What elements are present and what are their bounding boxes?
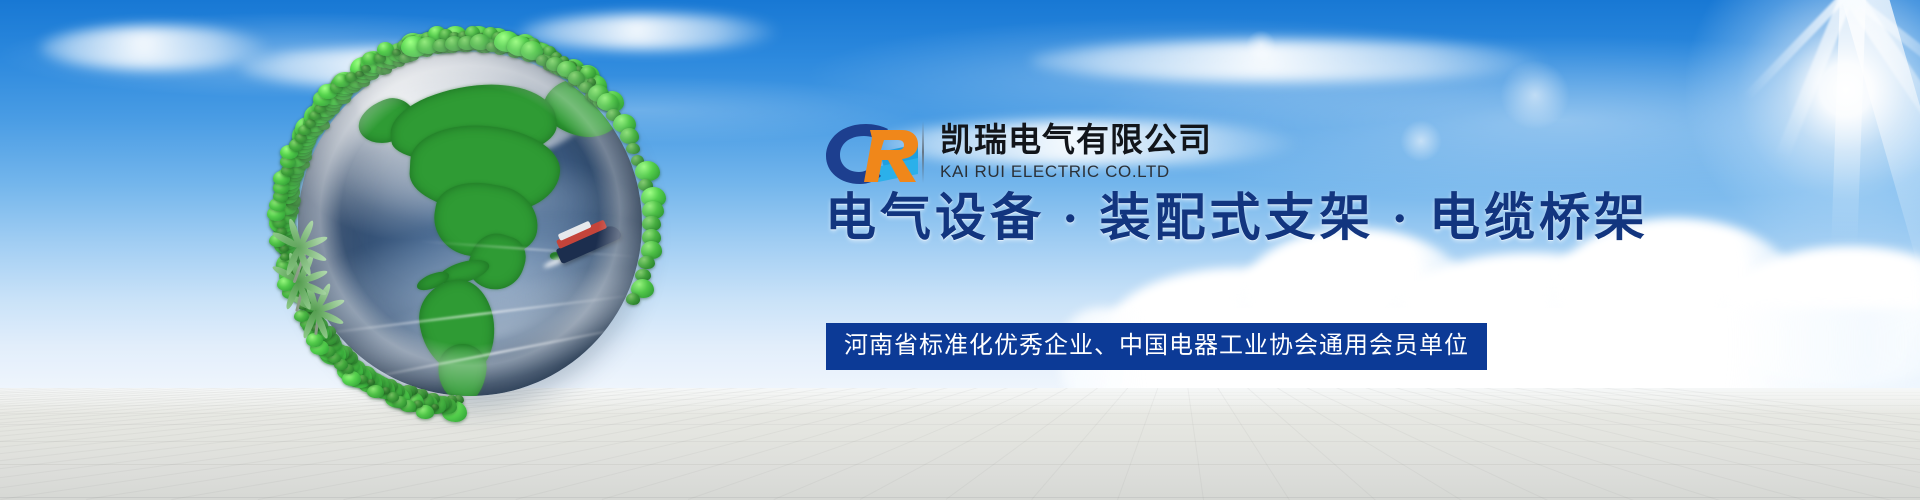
tree-icon	[269, 198, 286, 212]
tree-icon	[452, 38, 467, 51]
tree-icon	[295, 122, 319, 142]
green-earth-globe	[268, 24, 672, 424]
tree-icon	[428, 26, 446, 40]
tree-icon	[313, 91, 331, 105]
tree-icon	[620, 128, 640, 144]
tree-icon	[276, 224, 296, 242]
tree-icon	[314, 104, 326, 114]
tree-icon	[273, 181, 289, 194]
tree-icon	[289, 139, 303, 151]
tree-icon	[462, 36, 479, 51]
tree-icon	[642, 201, 664, 219]
tree-icon	[282, 286, 298, 299]
tree-icon	[275, 228, 296, 246]
tree-icon	[641, 187, 666, 208]
brand-text: 凯瑞电气有限公司 KAI RUI ELECTRIC CO.LTD	[940, 121, 1212, 183]
globe-sphere	[298, 52, 642, 396]
tree-icon	[641, 241, 663, 259]
tree-icon	[281, 165, 294, 175]
tree-icon	[417, 32, 440, 52]
tree-icon	[502, 35, 523, 53]
tree-icon	[439, 29, 453, 40]
tree-icon	[284, 147, 307, 167]
tree-icon	[280, 155, 296, 168]
tree-icon	[416, 405, 433, 419]
tree-icon	[446, 395, 458, 405]
tree-icon	[282, 167, 302, 185]
tree-icon	[443, 26, 468, 47]
company-name-cn: 凯瑞电气有限公司	[940, 121, 1212, 159]
tree-icon	[484, 35, 503, 51]
tree-icon	[466, 34, 484, 50]
tree-icon	[277, 205, 297, 222]
tree-icon	[437, 398, 456, 415]
tree-icon	[642, 216, 660, 231]
tree-icon	[305, 119, 316, 128]
tree-icon	[421, 32, 435, 43]
tree-icon	[287, 157, 306, 174]
tree-icon	[638, 179, 653, 192]
tree-icon	[409, 34, 432, 54]
tree-icon	[400, 400, 416, 412]
tree-icon	[273, 190, 288, 202]
tree-icon	[292, 124, 317, 145]
tree-icon	[278, 174, 300, 193]
tree-icon	[332, 82, 353, 100]
tree-icon	[277, 232, 297, 249]
tree-icon	[431, 404, 439, 410]
tree-icon	[318, 84, 337, 99]
tree-icon	[304, 105, 329, 126]
tree-icon	[276, 261, 290, 273]
tree-icon	[496, 37, 514, 53]
tree-icon	[479, 31, 501, 50]
tree-icon	[272, 215, 295, 235]
cr-monogram-logo	[826, 116, 922, 188]
tree-icon	[332, 72, 358, 94]
tree-icon	[470, 34, 490, 50]
tree-icon	[291, 133, 314, 153]
tree-icon	[403, 35, 418, 47]
tree-icon	[273, 217, 286, 228]
tree-icon	[416, 39, 426, 47]
brand-divider	[922, 121, 924, 183]
tree-icon	[309, 111, 321, 121]
credentials-ribbon-text: 河南省标准化优秀企业、中国电器工业协会通用会员单位	[844, 332, 1469, 359]
tree-icon	[283, 184, 300, 199]
tree-icon	[431, 396, 449, 411]
tree-icon	[286, 205, 299, 216]
tree-icon	[626, 143, 640, 155]
tree-icon	[277, 277, 295, 291]
tree-icon	[308, 103, 332, 123]
tree-icon	[631, 155, 644, 166]
tree-icon	[393, 396, 407, 407]
tree-icon	[510, 35, 522, 45]
tree-icon	[449, 32, 460, 41]
tree-icon	[435, 396, 452, 410]
tree-icon	[432, 37, 450, 52]
tree-icon	[466, 26, 491, 47]
tree-icon	[458, 36, 475, 50]
credentials-ribbon: 河南省标准化优秀企业、中国电器工业协会通用会员单位	[826, 323, 1487, 370]
tree-icon	[526, 38, 540, 49]
tree-icon	[446, 42, 459, 53]
tree-icon	[330, 82, 344, 93]
tree-icon	[285, 165, 304, 181]
tree-icon	[417, 395, 438, 413]
tree-icon	[483, 27, 498, 39]
tree-icon	[453, 395, 464, 404]
tree-icon	[465, 26, 480, 38]
tree-icon	[321, 83, 346, 105]
tree-icon	[298, 125, 311, 136]
company-name-en: KAI RUI ELECTRIC CO.LTD	[940, 161, 1212, 183]
tree-icon	[486, 28, 510, 49]
tree-icon	[276, 227, 287, 236]
tree-icon	[345, 72, 357, 82]
tree-icon	[274, 176, 299, 197]
tree-icon	[486, 42, 499, 52]
tree-icon	[274, 235, 296, 254]
tree-icon	[330, 75, 355, 97]
tree-icon	[457, 40, 470, 52]
tree-icon	[642, 229, 661, 245]
tree-icon	[323, 89, 345, 108]
tree-icon	[413, 400, 423, 408]
tree-icon	[303, 114, 325, 133]
tree-icon	[286, 197, 300, 209]
tree-icon	[333, 74, 349, 87]
tree-icon	[276, 254, 299, 274]
tree-icon	[293, 130, 315, 149]
tree-icon	[518, 37, 531, 47]
tree-icon	[433, 39, 450, 53]
tree-icon	[293, 143, 312, 159]
tree-icon	[426, 393, 439, 405]
tree-icon	[397, 40, 410, 51]
tree-icon	[267, 206, 285, 220]
tree-icon	[272, 208, 295, 228]
tree-icon	[276, 185, 298, 204]
tree-icon	[635, 161, 660, 181]
tree-icon	[305, 120, 324, 136]
tree-icon	[286, 270, 294, 277]
tree-icon	[275, 197, 296, 215]
tree-icon	[279, 221, 297, 237]
tree-icon	[492, 32, 504, 42]
tree-icon	[317, 104, 335, 120]
tree-icon	[494, 31, 520, 52]
hero-banner: 凯瑞电气有限公司 KAI RUI ELECTRIC CO.LTD 电气设备 · …	[0, 0, 1920, 500]
banner-headline: 电气设备 · 装配式支架 · 电缆桥架	[825, 188, 1545, 250]
tree-icon	[295, 117, 320, 139]
tree-icon	[322, 94, 342, 111]
tree-icon	[476, 33, 486, 41]
tree-icon	[461, 42, 473, 52]
tree-icon	[295, 133, 307, 143]
tree-icon	[280, 253, 291, 261]
tree-icon	[442, 401, 467, 422]
tree-icon	[498, 33, 520, 52]
tree-icon	[273, 171, 290, 185]
tree-icon	[269, 211, 295, 233]
tree-icon	[269, 234, 286, 247]
tree-icon	[284, 160, 305, 178]
tree-icon	[275, 168, 300, 189]
tree-icon	[425, 396, 445, 414]
tree-icon	[279, 245, 289, 253]
tree-icon	[280, 145, 299, 160]
tree-icon	[441, 40, 455, 52]
tree-icon	[312, 96, 336, 117]
brand-lockup: 凯瑞电气有限公司 KAI RUI ELECTRIC CO.LTD	[826, 112, 1212, 192]
tree-icon	[290, 137, 312, 156]
tree-icon	[458, 31, 469, 40]
tree-icon	[500, 31, 514, 43]
tree-icon	[445, 36, 463, 51]
tree-icon	[278, 240, 298, 257]
banner-content: 凯瑞电气有限公司 KAI RUI ELECTRIC CO.LTD 电气设备 · …	[826, 0, 1526, 500]
tree-icon	[421, 31, 444, 51]
